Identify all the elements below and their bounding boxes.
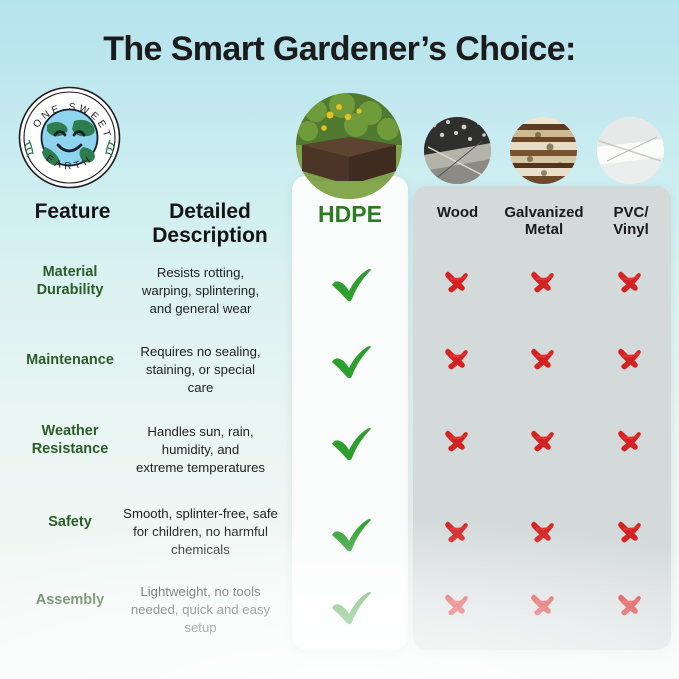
column-header-galvanized-metal: Galvanized Metal: [500, 205, 588, 239]
x-icon: [600, 591, 660, 621]
row-description: Requires no sealing,staining, or special…: [108, 343, 293, 397]
x-icon: [600, 518, 660, 548]
row-description-line2: for children, no harmful: [108, 523, 293, 541]
column-header-feature: Feature: [0, 200, 145, 224]
x-icon: [600, 345, 660, 375]
row-description-line1: Requires no sealing,: [108, 343, 293, 361]
x-icon: [427, 427, 487, 457]
wood-weathered-photo: [424, 117, 491, 184]
hdpe-column-panel: [292, 176, 408, 650]
x-icon: [513, 427, 573, 457]
row-description: Smooth, splinter-free, safefor children,…: [108, 505, 293, 559]
column-header-pvc-vinyl: PVC/ Vinyl: [592, 205, 670, 239]
x-icon: [600, 268, 660, 298]
row-description-line2: humidity, and: [108, 441, 293, 459]
pvc-vinyl-photo: [597, 117, 664, 184]
galvanized-metal-rusted-photo: [510, 117, 577, 184]
x-icon: [513, 345, 573, 375]
column-header-hdpe: HDPE: [292, 202, 408, 228]
row-description-line2: needed, quick and easy: [108, 601, 293, 619]
comparison-infographic: The Smart Gardener’s Choice:: [0, 0, 679, 679]
x-icon: [513, 591, 573, 621]
row-description-line1: Lightweight, no tools: [108, 583, 293, 601]
row-description-line3: and general wear: [108, 300, 293, 318]
check-icon: [320, 424, 380, 462]
column-header-metal-line1: Galvanized: [500, 205, 588, 222]
x-icon: [427, 345, 487, 375]
row-description-line1: Resists rotting,: [108, 264, 293, 282]
one-sweet-earth-logo: ONE SWEET EARTH: [17, 85, 122, 190]
check-icon: [320, 588, 380, 626]
column-header-description-line1: Detailed: [130, 200, 290, 224]
row-description-line3: chemicals: [108, 541, 293, 559]
x-icon: [427, 591, 487, 621]
row-description: Lightweight, no toolsneeded, quick and e…: [108, 583, 293, 637]
competitors-column-panel: [413, 186, 671, 650]
x-icon: [600, 427, 660, 457]
column-header-pvc-line2: Vinyl: [592, 222, 670, 239]
column-header-description-line2: Description: [130, 224, 290, 248]
row-description-line3: setup: [108, 619, 293, 637]
check-icon: [320, 515, 380, 553]
row-description: Resists rotting,warping, splintering,and…: [108, 264, 293, 318]
page-title: The Smart Gardener’s Choice:: [0, 30, 679, 69]
row-description: Handles sun, rain,humidity, andextreme t…: [108, 423, 293, 477]
check-icon: [320, 265, 380, 303]
column-header-wood: Wood: [420, 205, 495, 222]
column-header-pvc-line1: PVC/: [592, 205, 670, 222]
column-header-metal-line2: Metal: [500, 222, 588, 239]
hdpe-raised-bed-photo: [296, 93, 402, 199]
column-header-description: Detailed Description: [130, 200, 290, 247]
check-icon: [320, 342, 380, 380]
row-description-line3: care: [108, 379, 293, 397]
x-icon: [427, 518, 487, 548]
row-description-line2: staining, or special: [108, 361, 293, 379]
row-description-line2: warping, splintering,: [108, 282, 293, 300]
x-icon: [513, 268, 573, 298]
row-description-line3: extreme temperatures: [108, 459, 293, 477]
row-description-line1: Smooth, splinter-free, safe: [108, 505, 293, 523]
x-icon: [513, 518, 573, 548]
x-icon: [427, 268, 487, 298]
row-description-line1: Handles sun, rain,: [108, 423, 293, 441]
